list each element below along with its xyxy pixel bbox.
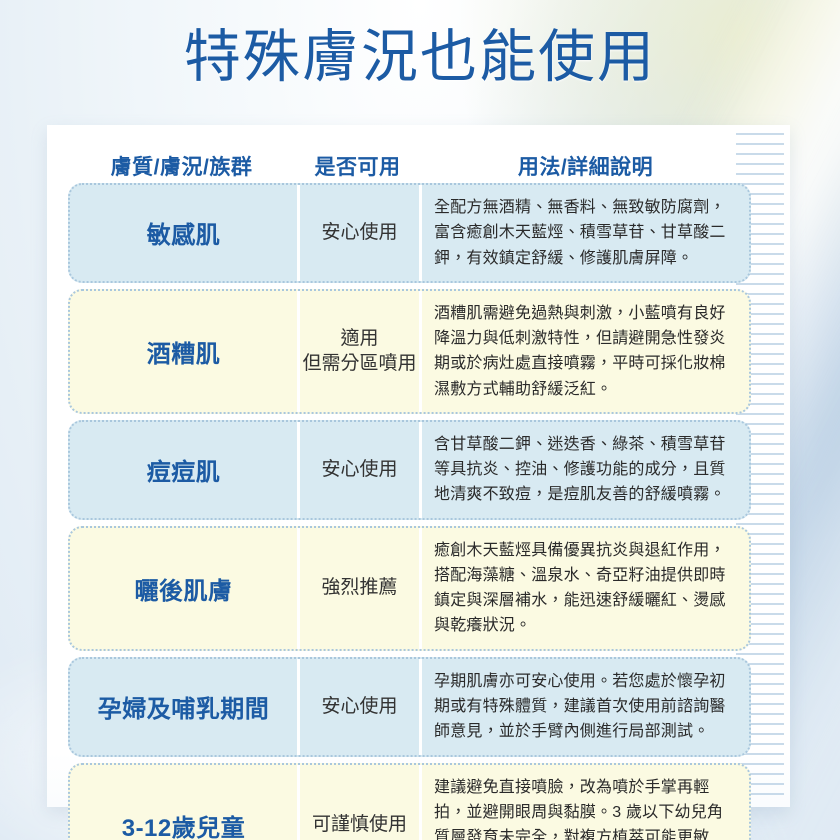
table-row: 痘痘肌 安心使用 含甘草酸二鉀、迷迭香、綠茶、積雪草苷等具抗炎、控油、修護功能的…: [68, 420, 751, 520]
table-row: 敏感肌 安心使用 全配方無酒精、無香料、無致敏防腐劑，富含癒創木天藍烴、積雪草苷…: [68, 183, 751, 283]
cell-usability: 強烈推薦: [297, 528, 422, 649]
cell-usability: 可謹慎使用: [297, 765, 422, 840]
cell-category: 敏感肌: [70, 185, 297, 281]
cell-description: 癒創木天藍烴具備優異抗炎與退紅作用，搭配海藻糖、溫泉水、奇亞籽油提供即時鎮定與深…: [422, 528, 751, 649]
page-title: 特殊膚況也能使用: [0, 26, 840, 90]
infographic-stage: 特殊膚況也能使用 膚質/膚況/族群 是否可用 用法/詳細說明 敏感肌 安心使用 …: [0, 0, 840, 840]
cell-description: 孕期肌膚亦可安心使用。若您處於懷孕初期或有特殊體質，建議首次使用前諮詢醫師意見，…: [422, 659, 751, 755]
column-header-usability: 是否可用: [295, 151, 420, 181]
table-row: 3-12歲兒童 可謹慎使用 建議避免直接噴臉，改為噴於手掌再輕拍，並避開眼周與黏…: [68, 763, 751, 840]
content-card: 膚質/膚況/族群 是否可用 用法/詳細說明 敏感肌 安心使用 全配方無酒精、無香…: [47, 125, 790, 807]
cell-description: 酒糟肌需避免過熱與刺激，小藍噴有良好降溫力與低刺激特性，但請避開急性發炎期或於病…: [422, 291, 751, 412]
cell-usability: 安心使用: [297, 659, 422, 755]
table-row: 孕婦及哺乳期間 安心使用 孕期肌膚亦可安心使用。若您處於懷孕初期或有特殊體質，建…: [68, 657, 751, 757]
cell-description: 建議避免直接噴臉，改為噴於手掌再輕拍，並避開眼周與黏膜。3 歲以下幼兒角質層發育…: [422, 765, 751, 840]
cell-description: 含甘草酸二鉀、迷迭香、綠茶、積雪草苷等具抗炎、控油、修護功能的成分，且質地清爽不…: [422, 422, 751, 518]
cell-category: 酒糟肌: [70, 291, 297, 412]
cell-category: 痘痘肌: [70, 422, 297, 518]
cell-usability-line-2: 但需分區噴用: [302, 351, 416, 377]
column-header-description: 用法/詳細說明: [420, 151, 751, 181]
table-row: 酒糟肌 適用 但需分區噴用 酒糟肌需避免過熱與刺激，小藍噴有良好降溫力與低刺激特…: [68, 289, 751, 414]
cell-usability: 適用 但需分區噴用: [297, 291, 422, 412]
cell-category: 孕婦及哺乳期間: [70, 659, 297, 755]
cell-usability-line-1: 適用: [340, 326, 378, 352]
cell-usability: 安心使用: [297, 185, 422, 281]
column-header-category: 膚質/膚況/族群: [68, 151, 295, 181]
compatibility-table: 膚質/膚況/族群 是否可用 用法/詳細說明 敏感肌 安心使用 全配方無酒精、無香…: [68, 141, 751, 840]
table-row: 曬後肌膚 強烈推薦 癒創木天藍烴具備優異抗炎與退紅作用，搭配海藻糖、溫泉水、奇亞…: [68, 526, 751, 651]
cell-description: 全配方無酒精、無香料、無致敏防腐劑，富含癒創木天藍烴、積雪草苷、甘草酸二鉀，有效…: [422, 185, 751, 281]
cell-category: 3-12歲兒童: [70, 765, 297, 840]
table-header-row: 膚質/膚況/族群 是否可用 用法/詳細說明: [68, 141, 751, 183]
cell-usability: 安心使用: [297, 422, 422, 518]
cell-category: 曬後肌膚: [70, 528, 297, 649]
